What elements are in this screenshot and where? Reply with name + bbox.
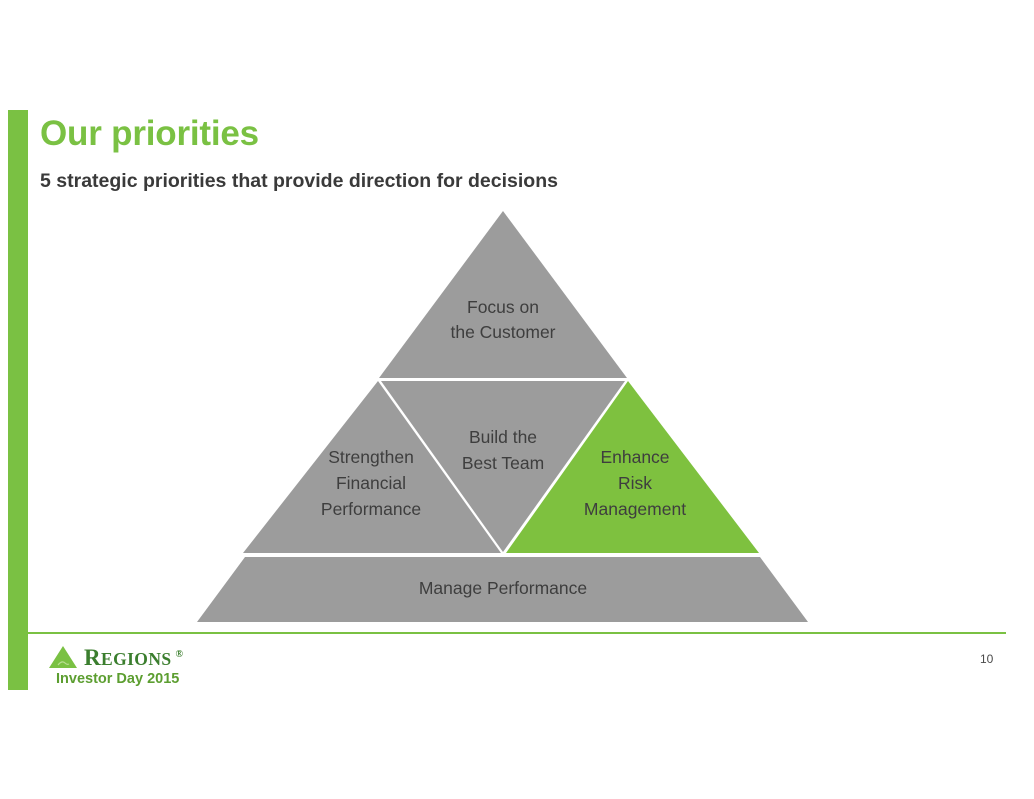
pyramid-label-line: Focus on — [467, 297, 539, 317]
pyramid-label-line: the Customer — [450, 322, 555, 342]
page-subtitle: 5 strategic priorities that provide dire… — [40, 172, 558, 192]
pyramid-segment-build-the-best-team — [381, 381, 625, 552]
regions-wordmark-rest: EGIONS — [101, 649, 171, 669]
page-number: 10 — [980, 652, 1020, 666]
pyramid-label-line: Strengthen — [328, 447, 414, 467]
pyramid-label-line: Risk — [618, 473, 652, 493]
pyramid-segment-manage-performance — [197, 557, 808, 622]
pyramid-label-line: Financial — [336, 473, 406, 493]
pyramid-label-build-the-best-team: Build the Best Team — [462, 427, 544, 473]
logo-tagline: Investor Day 2015 — [56, 672, 308, 687]
left-accent-bar — [8, 110, 28, 690]
registered-mark-icon: ® — [176, 649, 184, 660]
pyramid-label-line: Build the — [469, 427, 537, 447]
pyramid-label-line: Manage Performance — [419, 578, 587, 598]
pyramid-label-enhance-risk-management: Enhance Risk Management — [584, 447, 686, 519]
pyramid-label-strengthen-financial-performance: Strengthen Financial Performance — [321, 447, 421, 519]
pyramid-label-line: Management — [584, 499, 686, 519]
regions-wordmark: REGIONS® — [84, 647, 183, 669]
pyramid-label-manage-performance: Manage Performance — [419, 578, 587, 598]
pyramid-label-line: Enhance — [600, 447, 669, 467]
footer-divider — [28, 632, 1006, 634]
regions-wordmark-lead: R — [84, 645, 101, 670]
pyramid-label-focus-on-the-customer: Focus on the Customer — [450, 297, 555, 342]
pyramid-segment-focus-on-the-customer — [379, 211, 627, 378]
regions-logo: REGIONS® Investor Day 2015 — [48, 644, 308, 690]
pyramid-label-line: Best Team — [462, 453, 544, 473]
pyramid-label-line: Performance — [321, 499, 421, 519]
pyramid-segment-enhance-risk-management — [506, 381, 759, 553]
pyramid-segment-strengthen-financial-performance — [243, 381, 501, 553]
regions-triangle-logo-icon — [48, 645, 78, 669]
page-title: Our priorities — [40, 116, 259, 151]
